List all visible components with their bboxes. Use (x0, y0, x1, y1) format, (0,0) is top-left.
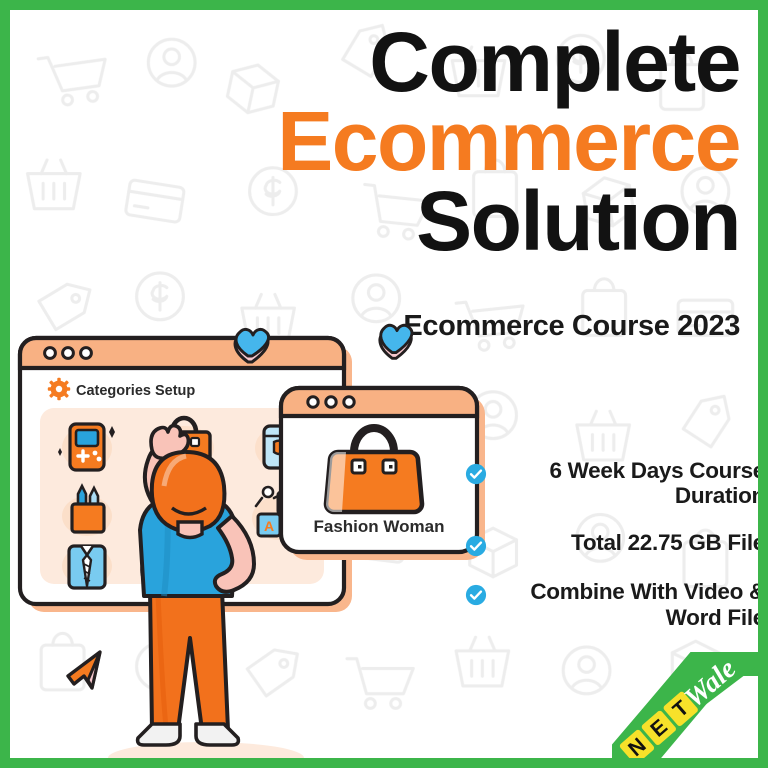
feature-item: 6 Week Days Course Duration (465, 458, 765, 508)
check-circle-icon (465, 535, 487, 557)
headline-group: Complete Ecommerce Solution (220, 24, 740, 260)
window-dot (344, 397, 354, 407)
feature-label: Total 22.75 GB File (498, 530, 765, 555)
headline-line-3: Solution (220, 183, 740, 260)
heart-icon (376, 322, 418, 364)
window-main-title: Categories Setup (76, 383, 195, 399)
check-circle-icon (465, 584, 487, 606)
character-shoe (138, 724, 180, 745)
window-card-label: Fashion Woman (314, 517, 445, 536)
feature-item: Total 22.75 GB File (465, 530, 765, 557)
svg-text:A: A (264, 518, 274, 534)
window-dot (308, 397, 318, 407)
window-dot (81, 348, 92, 359)
window-card[interactable]: Fashion Woman (281, 388, 485, 560)
cursor-arrow-icon (68, 652, 100, 688)
feature-label: Combine With Video & Word File (498, 579, 765, 629)
feature-label: 6 Week Days Course Duration (498, 458, 765, 508)
subtitle: Ecommerce Course 2023 (220, 310, 740, 343)
poster-canvas: Complete Ecommerce Solution Ecommerce Co… (0, 0, 768, 768)
window-dot (63, 348, 74, 359)
headline-line-2: Ecommerce (220, 103, 740, 180)
character-shoe (196, 724, 238, 745)
check-circle-icon (465, 463, 487, 485)
gear-icon (48, 378, 70, 400)
window-dot (326, 397, 336, 407)
brand-logo[interactable]: N E T Wale Your perfect digital partner (612, 652, 760, 760)
feature-list: 6 Week Days Course Duration Total 22.75 … (465, 458, 765, 652)
feature-item: Combine With Video & Word File (465, 579, 765, 629)
illustration-scene: Categories Setup (10, 310, 490, 768)
headline-line-1: Complete (220, 24, 740, 101)
window-dot (45, 348, 56, 359)
character-neck (178, 522, 202, 538)
character-head (152, 452, 225, 532)
shirt-tie-icon (62, 546, 112, 588)
